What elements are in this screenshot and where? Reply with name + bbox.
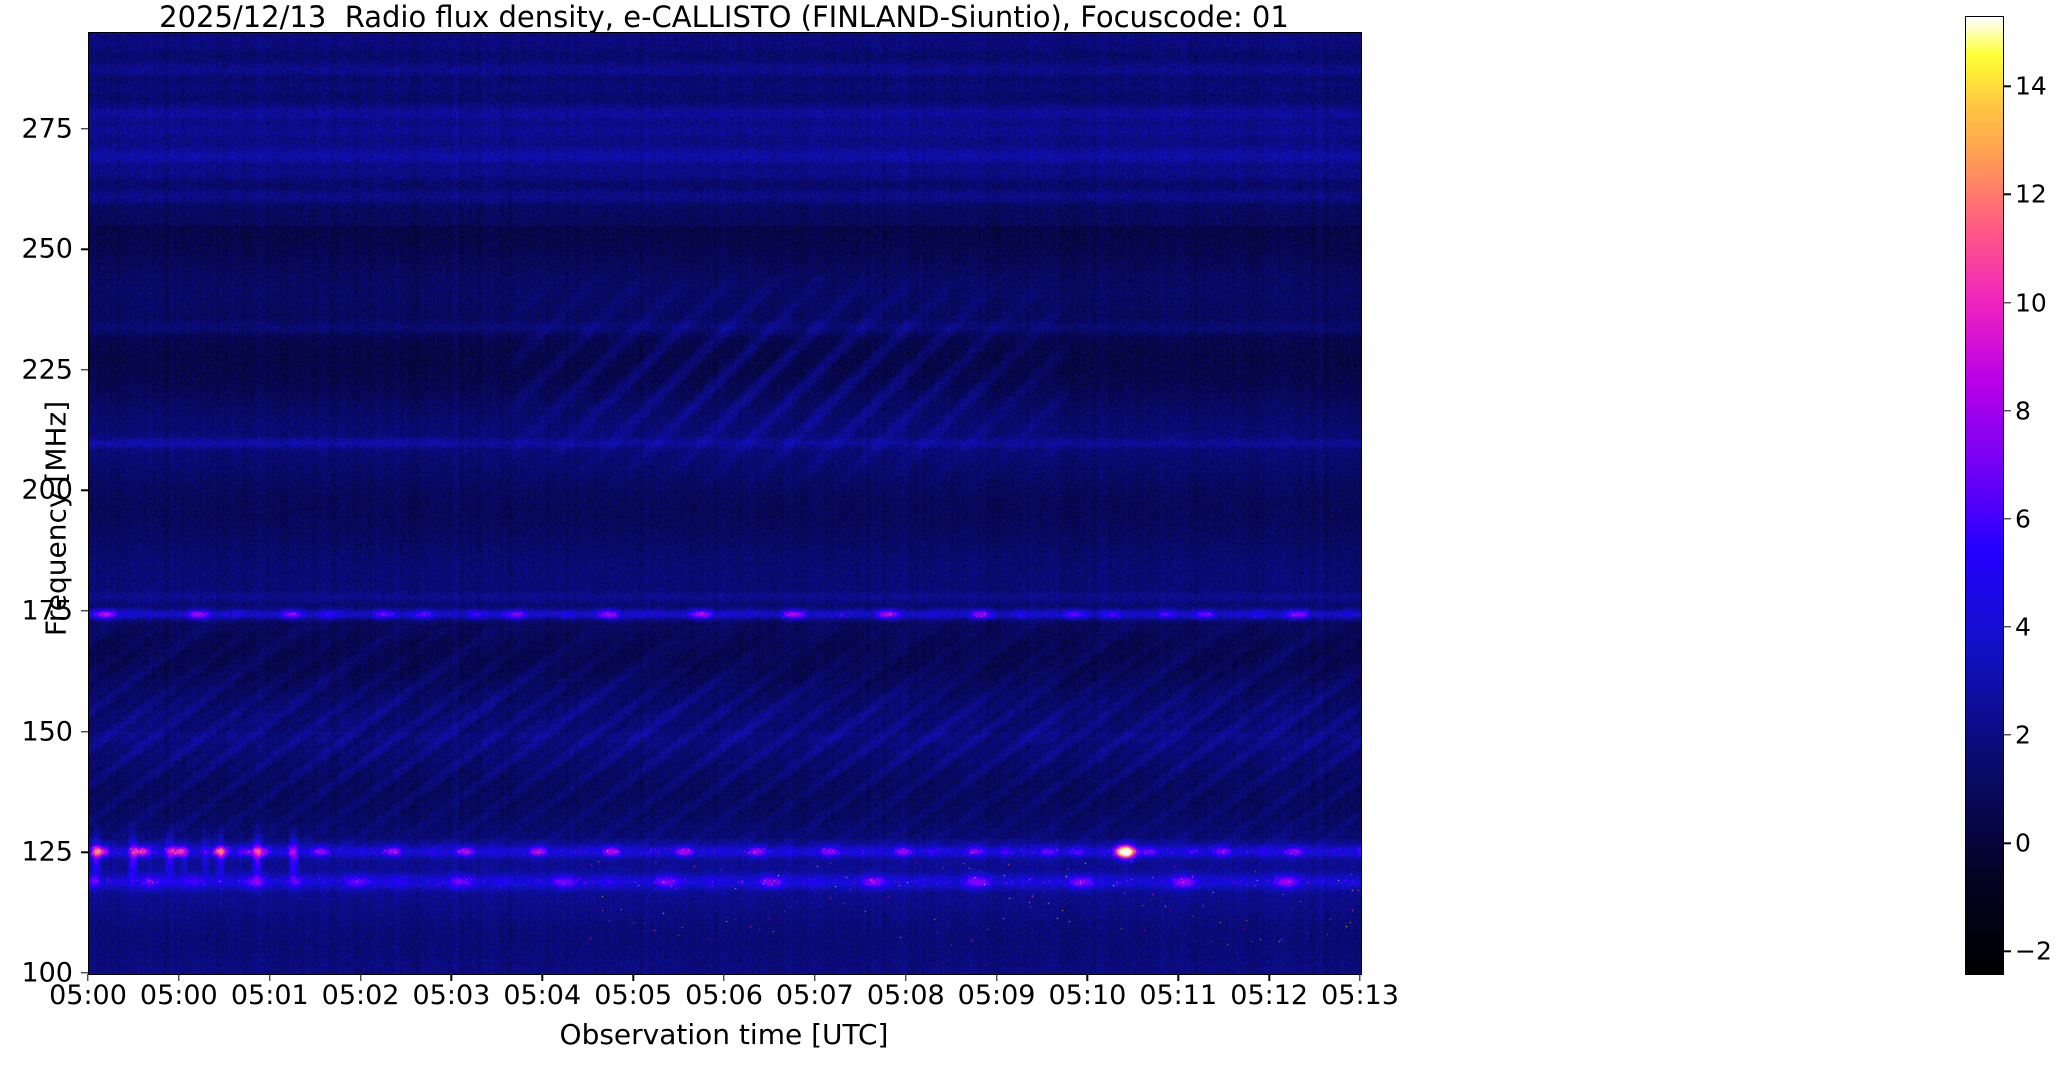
y-tick-mark [81, 490, 88, 491]
colorbar-tick-label: 14 [2015, 72, 2047, 101]
y-tick-mark [81, 852, 88, 853]
x-axis-label: Observation time [UTC] [88, 1018, 1360, 1051]
y-tick-mark [81, 128, 88, 129]
colorbar-tick-mark [2004, 410, 2011, 411]
colorbar-tick-label: 6 [2015, 504, 2031, 533]
y-tick-mark [81, 731, 88, 732]
x-tick-label: 05:13 [1275, 980, 1445, 1011]
colorbar-tick-mark [2004, 626, 2011, 627]
colorbar-tick-label: 2 [2015, 721, 2031, 750]
colorbar-gradient [1966, 17, 2003, 974]
colorbar-tick-mark [2004, 194, 2011, 195]
y-tick-mark [81, 369, 88, 370]
colorbar-tick-label: 0 [2015, 829, 2031, 858]
figure-canvas: 2025/12/13 Radio flux density, e-CALLIST… [0, 0, 2066, 1067]
colorbar-tick-mark [2004, 86, 2011, 87]
spectrogram-axes[interactable] [88, 32, 1362, 975]
colorbar-tick-mark [2004, 302, 2011, 303]
colorbar[interactable] [1965, 16, 2004, 975]
colorbar-tick-mark [2004, 843, 2011, 844]
y-tick-mark [81, 610, 88, 611]
colorbar-tick-mark [2004, 518, 2011, 519]
page-title: 2025/12/13 Radio flux density, e-CALLIST… [88, 2, 1360, 32]
y-tick-mark [81, 248, 88, 249]
colorbar-tick-label: −2 [2015, 937, 2052, 966]
y-axis-label: Frequency [MHz] [40, 69, 73, 969]
colorbar-tick-label: 4 [2015, 612, 2031, 641]
colorbar-tick-label: 12 [2015, 180, 2047, 209]
colorbar-tick-label: 8 [2015, 396, 2031, 425]
colorbar-tick-mark [2004, 951, 2011, 952]
spectrogram-image [89, 33, 1361, 974]
colorbar-tick-label: 10 [2015, 288, 2047, 317]
colorbar-tick-mark [2004, 734, 2011, 735]
